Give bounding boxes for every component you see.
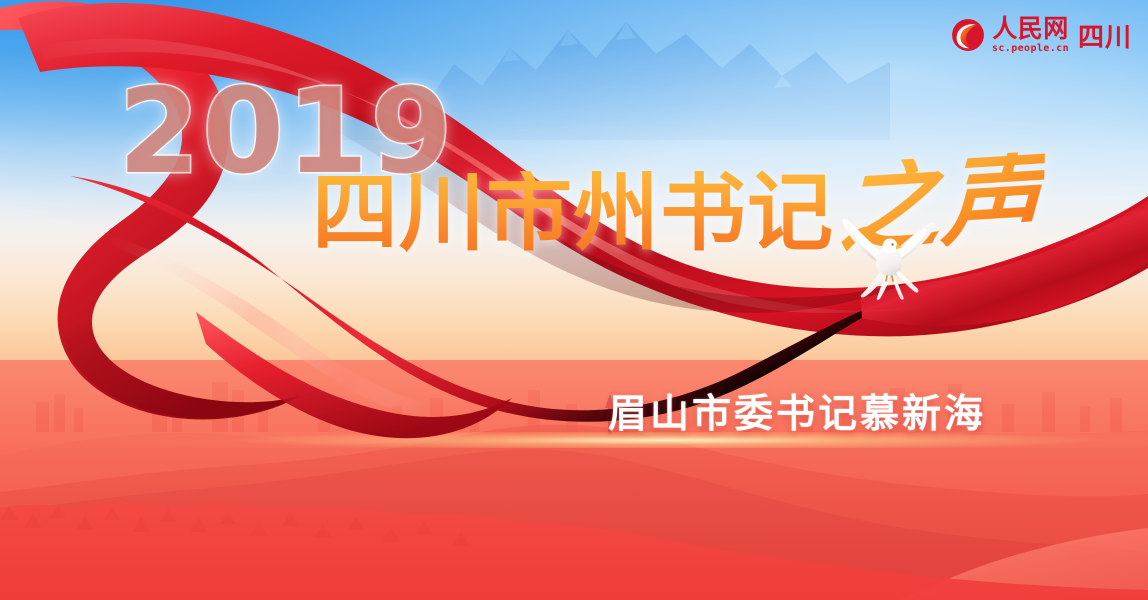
title-brush-text: 之声	[838, 151, 1045, 253]
logo-region-label: 四川	[1078, 17, 1132, 54]
subtitle-text: 眉山市委书记慕新海	[608, 392, 986, 438]
logo-url: sc.people.cn	[992, 44, 1069, 54]
logo-wordmark: 人民网	[992, 16, 1069, 41]
people-cn-logo-icon	[951, 18, 985, 52]
page-title: 四川市州书记 之声	[312, 163, 1042, 255]
title-main-text: 四川市州书记	[312, 171, 834, 255]
site-logo[interactable]: 人民网 sc.people.cn 四川	[951, 16, 1132, 54]
banner-root: 人民网 sc.people.cn 四川 2019 四川市州书记 之声	[0, 0, 1148, 600]
logo-word-block: 人民网 sc.people.cn	[992, 16, 1069, 54]
